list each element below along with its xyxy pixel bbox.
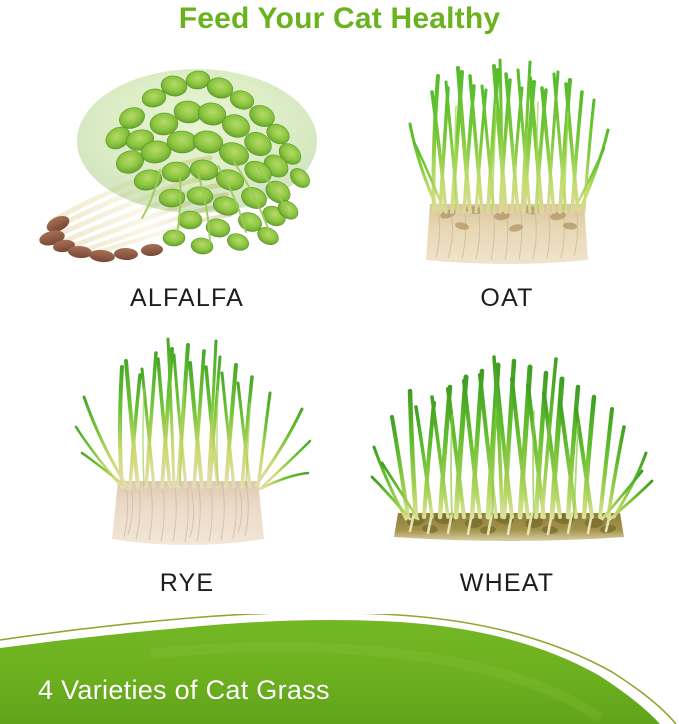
bottom-banner: 4 Varieties of Cat Grass — [0, 614, 679, 724]
variety-card-rye: RYE — [22, 331, 352, 616]
variety-card-oat: OAT — [352, 46, 662, 331]
wheat-grass-photo — [352, 331, 662, 561]
variety-grid: ALFALFA — [0, 46, 679, 616]
rye-grass-photo — [22, 331, 352, 561]
variety-label-oat: OAT — [352, 284, 662, 313]
variety-label-wheat: WHEAT — [352, 569, 662, 598]
variety-card-alfalfa: ALFALFA — [22, 46, 352, 331]
banner-wave-shape — [0, 614, 679, 724]
banner-title: 4 Varieties of Cat Grass — [38, 675, 330, 706]
variety-label-alfalfa: ALFALFA — [22, 284, 352, 313]
variety-card-wheat: WHEAT — [352, 331, 662, 616]
alfalfa-sprouts-photo — [22, 46, 352, 276]
page-title: Feed Your Cat Healthy — [0, 2, 679, 36]
variety-label-rye: RYE — [22, 569, 352, 598]
oat-grass-photo — [352, 46, 662, 276]
